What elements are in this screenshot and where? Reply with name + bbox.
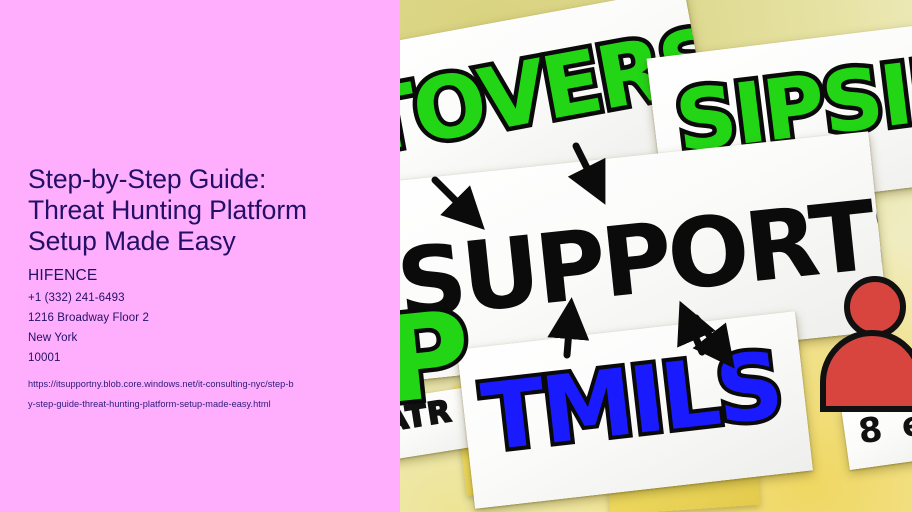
brand-name: HIFENCE [28, 266, 378, 286]
source-url[interactable]: https://itsupportny.blob.core.windows.ne… [28, 374, 378, 414]
source-url-line-2[interactable]: y-step-guide-threat-hunting-platform-set… [28, 394, 378, 414]
address-zip: 10001 [28, 348, 378, 368]
sign-text-tmils: TMILS [477, 332, 786, 472]
info-content: Step-by-Step Guide: Threat Hunting Platf… [28, 164, 378, 414]
address-street: 1216 Broadway Floor 2 [28, 308, 378, 328]
info-panel: Step-by-Step Guide: Threat Hunting Platf… [0, 0, 400, 512]
phone-number[interactable]: +1 (332) 241-6493 [28, 288, 378, 308]
poster: Step-by-Step Guide: Threat Hunting Platf… [0, 0, 912, 512]
page-title: Step-by-Step Guide: Threat Hunting Platf… [28, 164, 378, 257]
source-url-line-1[interactable]: https://itsupportny.blob.core.windows.ne… [28, 374, 378, 394]
person-body [820, 330, 912, 412]
hero-image: TOVERS SIPSID SUPPORTS EATR 8 e TMILS P [400, 0, 912, 512]
address-city: New York [28, 328, 378, 348]
person-head [844, 276, 906, 338]
person-icon [824, 276, 912, 388]
sign-text-supports: SUPPORTS [400, 173, 889, 341]
